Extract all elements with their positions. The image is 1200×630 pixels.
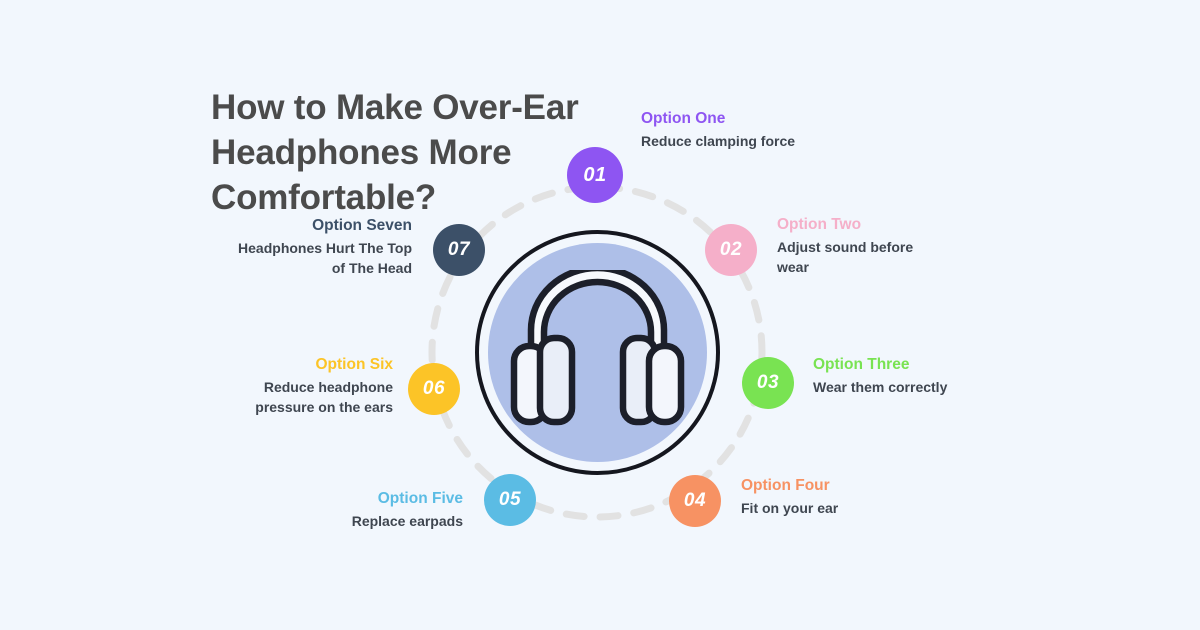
badge-option-three[interactable]: 03 — [742, 357, 794, 409]
title-line-1: How to Make Over-Ear — [211, 85, 631, 130]
option-description: Wear them correctly — [813, 377, 993, 397]
option-description: Replace earpads — [283, 511, 463, 531]
option-title: Option Seven — [230, 215, 412, 236]
option-title: Option Four — [741, 475, 901, 496]
option-description: Fit on your ear — [741, 498, 901, 518]
option-block-option-one[interactable]: Option OneReduce clamping force — [641, 108, 871, 151]
option-description: Reduce clamping force — [641, 131, 871, 151]
option-title: Option Two — [777, 214, 937, 235]
badge-option-five[interactable]: 05 — [484, 474, 536, 526]
badge-number: 05 — [499, 489, 521, 511]
badge-number: 07 — [448, 239, 470, 261]
badge-number: 03 — [757, 372, 779, 394]
badge-number: 01 — [583, 164, 606, 187]
option-block-option-two[interactable]: Option TwoAdjust sound before wear — [777, 214, 937, 277]
badge-option-two[interactable]: 02 — [705, 224, 757, 276]
center-emblem — [475, 230, 720, 475]
option-block-option-four[interactable]: Option FourFit on your ear — [741, 475, 901, 518]
option-block-option-seven[interactable]: Option SevenHeadphones Hurt The Top of T… — [230, 215, 412, 278]
option-block-option-three[interactable]: Option ThreeWear them correctly — [813, 354, 993, 397]
badge-option-one[interactable]: 01 — [567, 147, 623, 203]
badge-number: 06 — [423, 378, 445, 400]
option-description: Headphones Hurt The Top of The Head — [230, 238, 412, 278]
badge-option-six[interactable]: 06 — [408, 363, 460, 415]
option-block-option-six[interactable]: Option SixReduce headphone pressure on t… — [206, 354, 393, 417]
badge-number: 02 — [720, 239, 742, 261]
option-title: Option Five — [283, 488, 463, 509]
option-block-option-five[interactable]: Option FiveReplace earpads — [283, 488, 463, 531]
option-description: Adjust sound before wear — [777, 237, 937, 277]
option-title: Option Six — [206, 354, 393, 375]
badge-option-four[interactable]: 04 — [669, 475, 721, 527]
infographic-canvas: How to Make Over-Ear Headphones More Com… — [0, 0, 1200, 630]
headphones-icon — [509, 270, 686, 435]
badge-option-seven[interactable]: 07 — [433, 224, 485, 276]
option-title: Option Three — [813, 354, 993, 375]
option-title: Option One — [641, 108, 871, 129]
option-description: Reduce headphone pressure on the ears — [206, 377, 393, 417]
badge-number: 04 — [684, 490, 706, 512]
